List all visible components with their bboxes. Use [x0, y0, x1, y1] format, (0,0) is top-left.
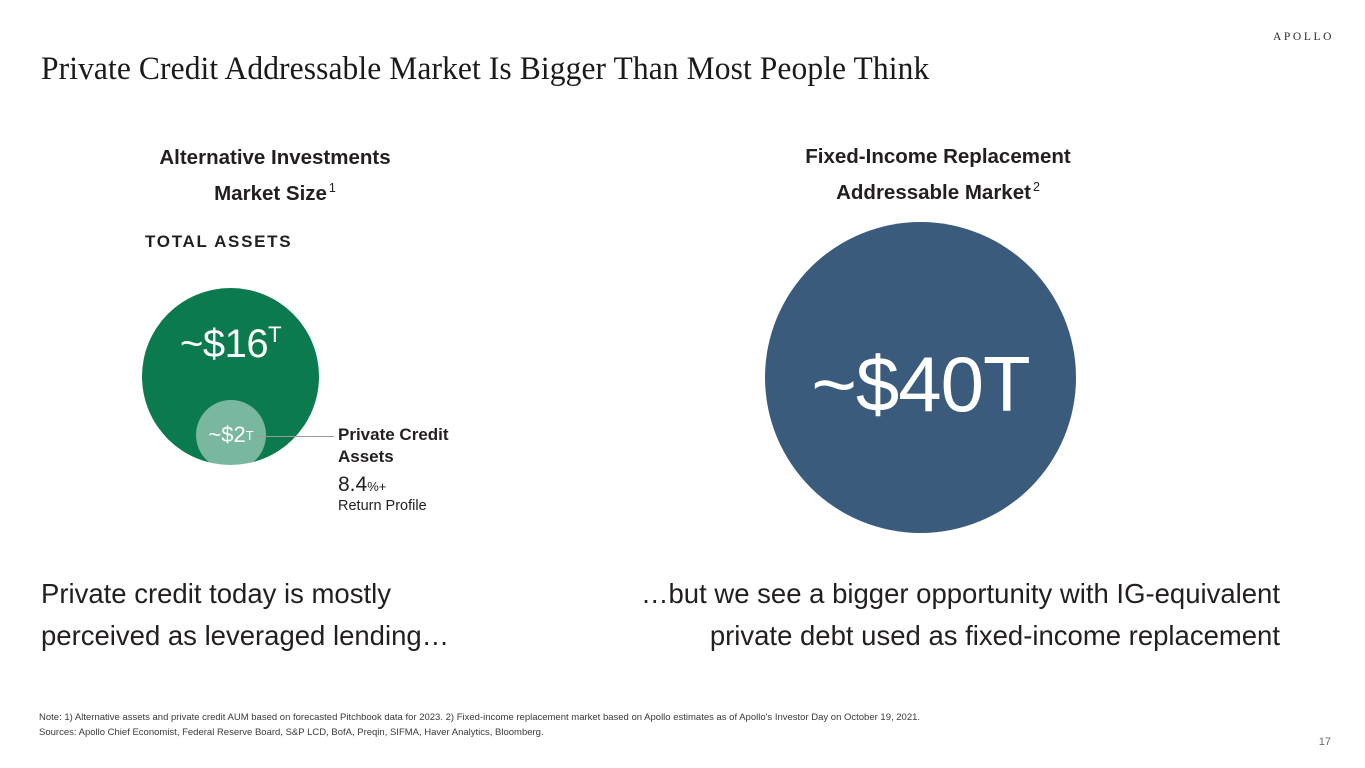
left-heading-line1: Alternative Investments	[159, 146, 390, 169]
inner-circle-value: ~$2	[208, 424, 245, 446]
right-caption: …but we see a bigger opportunity with IG…	[560, 573, 1280, 657]
left-heading-line2: Market Size	[214, 182, 327, 205]
right-panel-heading: Fixed-Income Replacement Addressable Mar…	[742, 141, 1134, 208]
footnotes: Note: 1) Alternative assets and private …	[39, 710, 920, 740]
callout-return-rate: 8.4%+	[338, 474, 518, 496]
apollo-logo: APOLLO	[1273, 31, 1334, 43]
callout-title: Private Credit Assets	[338, 424, 518, 468]
left-caption: Private credit today is mostly perceived…	[41, 573, 511, 657]
outer-circle-value: ~$16	[180, 324, 268, 364]
right-heading-line1: Fixed-Income Replacement	[805, 145, 1070, 168]
private-credit-value: ~$2T	[196, 400, 266, 470]
left-heading-footnote-marker: 1	[329, 181, 336, 195]
total-assets-label: TOTAL ASSETS	[145, 232, 292, 252]
callout-title-line2: Assets	[338, 447, 394, 466]
callout-rate-suffix: %+	[367, 479, 386, 494]
page-number: 17	[1319, 736, 1331, 748]
right-heading-line2: Addressable Market	[836, 181, 1031, 204]
page-title: Private Credit Addressable Market Is Big…	[41, 51, 929, 88]
fixed-income-replacement-value: ~$40T	[765, 222, 1076, 533]
callout-return-label: Return Profile	[338, 497, 518, 516]
callout-connector-line	[258, 436, 334, 437]
slide: APOLLO Private Credit Addressable Market…	[0, 0, 1365, 768]
callout-title-line1: Private Credit	[338, 425, 449, 444]
footnote-note: Note: 1) Alternative assets and private …	[39, 710, 920, 725]
inner-circle-unit: T	[246, 429, 254, 442]
footnote-sources: Sources: Apollo Chief Economist, Federal…	[39, 725, 920, 740]
right-heading-footnote-marker: 2	[1033, 180, 1040, 194]
private-credit-callout: Private Credit Assets 8.4%+ Return Profi…	[338, 424, 518, 516]
left-panel-heading: Alternative Investments Market Size1	[80, 142, 470, 209]
outer-circle-unit: T	[268, 324, 281, 346]
callout-rate-value: 8.4	[338, 473, 367, 496]
